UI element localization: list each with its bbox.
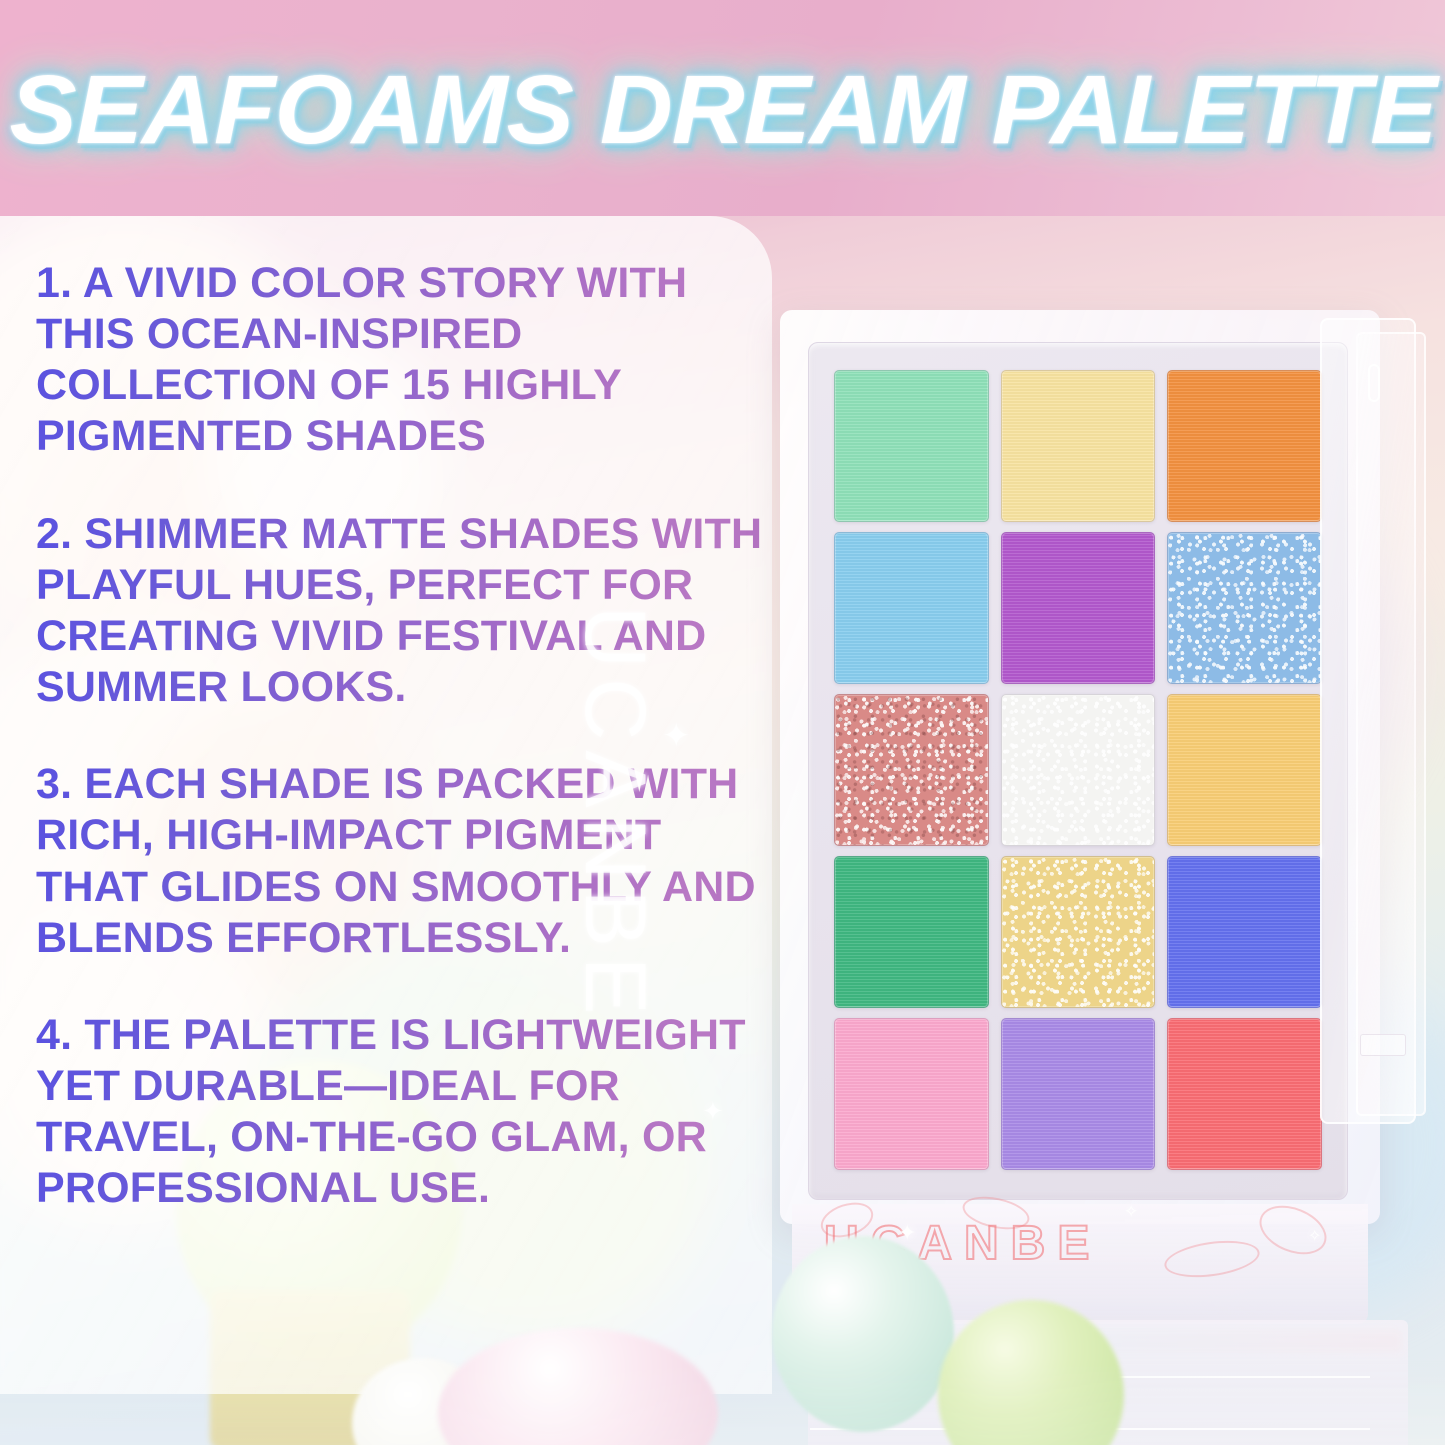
star-icon: ✧ — [1124, 1202, 1138, 1222]
shade-pan-mint-green[interactable] — [834, 370, 989, 522]
lid-hinge-bar — [1360, 1034, 1406, 1056]
shade-pan-orchid-purple[interactable] — [1001, 532, 1156, 684]
shade-pan-pale-yellow[interactable] — [1001, 370, 1156, 522]
lid-hinge-notch — [1368, 364, 1380, 402]
bottom-fade — [0, 1360, 1445, 1445]
shade-pan-warm-yellow[interactable] — [1167, 694, 1322, 846]
sparkle-icon: ✦ — [662, 716, 691, 756]
shade-pan-rose-glitter[interactable] — [834, 694, 989, 846]
feature-item-3: 3. EACH SHADE IS PACKED WITH RICH, HIGH-… — [36, 759, 776, 964]
sparkle-icon: ✦ — [702, 1096, 724, 1127]
shade-pan-white-shimmer[interactable] — [1001, 694, 1156, 846]
star-icon: ✦ — [898, 1220, 916, 1246]
shade-pan-emerald-green[interactable] — [834, 856, 989, 1008]
feature-item-4: 4. THE PALETTE IS LIGHTWEIGHT YET DURABL… — [36, 1010, 776, 1215]
shade-pan-gold-shimmer[interactable] — [1001, 856, 1156, 1008]
header-banner — [0, 0, 1445, 216]
shade-pan-orange[interactable] — [1167, 370, 1322, 522]
star-icon: ✧ — [1308, 1226, 1321, 1246]
brand-watermark: UCANBE — [565, 606, 664, 1024]
shade-pan-blue-glitter[interactable] — [1167, 532, 1322, 684]
shade-pan-sky-blue[interactable] — [834, 532, 989, 684]
product-marketing-image: SEAFOAMS DREAM PALETTE 1. A VIVID COLOR … — [0, 0, 1445, 1445]
shade-pan-bubblegum-pink[interactable] — [834, 1018, 989, 1170]
shade-pan-coral-red[interactable] — [1167, 1018, 1322, 1170]
shade-pan-royal-blue[interactable] — [1167, 856, 1322, 1008]
feature-item-2: 2. SHIMMER MATTE SHADES WITH PLAYFUL HUE… — [36, 509, 776, 714]
palette-lid-inner — [1356, 332, 1426, 1116]
feature-item-1: 1. A VIVID COLOR STORY WITH THIS OCEAN-I… — [36, 258, 776, 463]
shade-grid — [822, 356, 1334, 1184]
shade-pan-lavender[interactable] — [1001, 1018, 1156, 1170]
